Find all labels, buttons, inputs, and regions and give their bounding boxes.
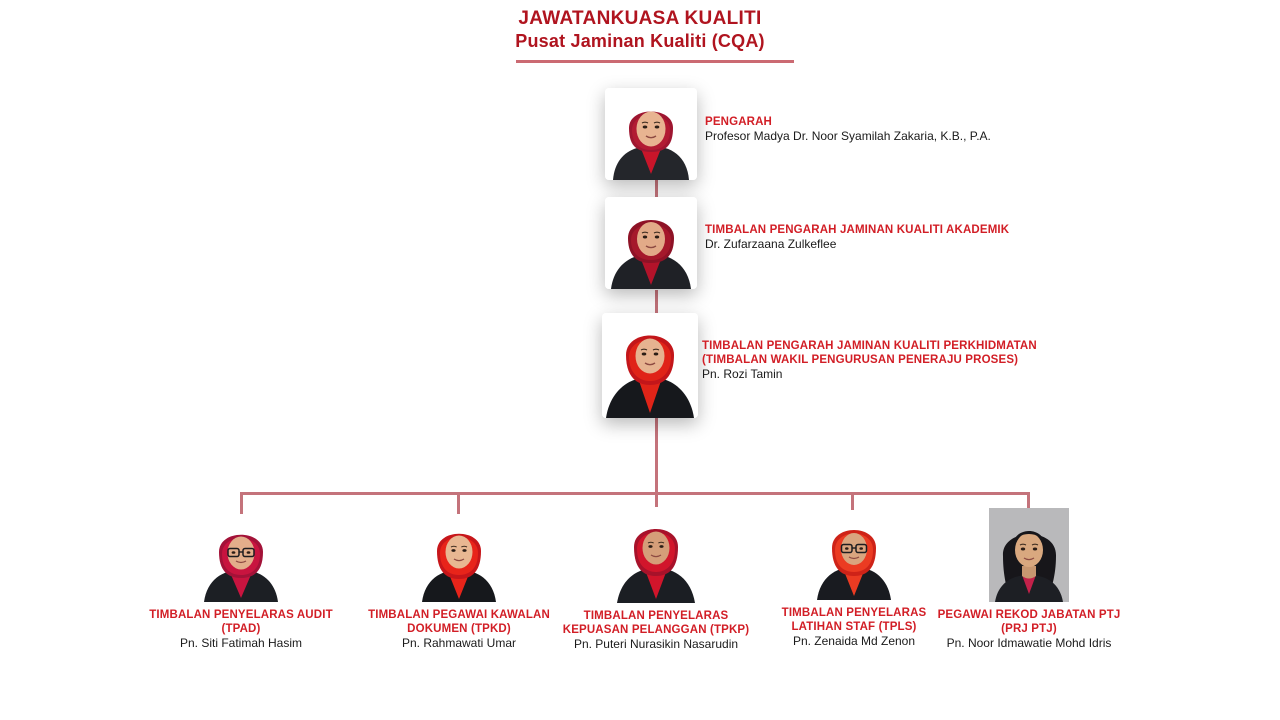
label-pengarah: PENGARAH Profesor Madya Dr. Noor Syamila… bbox=[705, 115, 1085, 144]
org-node-tpkd[interactable]: TIMBALAN PEGAWAI KAWALAN DOKUMEN (TPKD) … bbox=[355, 514, 563, 645]
portrait-pengarah bbox=[605, 88, 697, 180]
role-tpkd: TIMBALAN PEGAWAI KAWALAN DOKUMEN (TPKD) bbox=[355, 608, 563, 636]
chart-title: JAWATANKUASA KUALITI Pusat Jaminan Kuali… bbox=[0, 8, 1280, 52]
role-pengarah: PENGARAH bbox=[705, 115, 1085, 129]
portrait-timbalan-perkhidmatan bbox=[602, 313, 698, 418]
org-chart-canvas: JAWATANKUASA KUALITI Pusat Jaminan Kuali… bbox=[0, 0, 1280, 720]
portrait-timbalan-akademik bbox=[605, 197, 697, 289]
connector-drop-1 bbox=[240, 492, 243, 516]
label-tpad: TIMBALAN PENYELARAS AUDIT (TPAD) Pn. Sit… bbox=[137, 608, 345, 651]
label-prjptj: PEGAWAI REKOD JABATAN PTJ (PRJ PTJ) Pn. … bbox=[925, 608, 1133, 651]
portrait-tpkp bbox=[612, 507, 700, 603]
portrait-tpkd bbox=[416, 514, 502, 602]
org-node-tpkp[interactable]: TIMBALAN PENYELARAS KEPUASAN PELANGGAN (… bbox=[552, 507, 760, 646]
role-prjptj: PEGAWAI REKOD JABATAN PTJ (PRJ PTJ) bbox=[925, 608, 1133, 636]
portrait-tpad bbox=[198, 514, 284, 602]
title-line-1: JAWATANKUASA KUALITI bbox=[0, 8, 1280, 30]
label-timbalan-akademik: TIMBALAN PENGARAH JAMINAN KUALITI AKADEM… bbox=[705, 223, 1085, 252]
person-prjptj: Pn. Noor Idmawatie Mohd Idris bbox=[925, 636, 1133, 651]
connector-drop-2 bbox=[457, 492, 460, 516]
label-tpkd: TIMBALAN PEGAWAI KAWALAN DOKUMEN (TPKD) … bbox=[355, 608, 563, 651]
org-node-prjptj[interactable]: PEGAWAI REKOD JABATAN PTJ (PRJ PTJ) Pn. … bbox=[925, 508, 1133, 645]
portrait-tpls bbox=[812, 510, 896, 600]
role-tpkp: TIMBALAN PENYELARAS KEPUASAN PELANGGAN (… bbox=[552, 609, 760, 637]
person-tpad: Pn. Siti Fatimah Hasim bbox=[137, 636, 345, 651]
title-underline-rule bbox=[516, 60, 794, 63]
role-timbalan-perkhidmatan: TIMBALAN PENGARAH JAMINAN KUALITI PERKHI… bbox=[702, 339, 1092, 367]
org-node-tpad[interactable]: TIMBALAN PENYELARAS AUDIT (TPAD) Pn. Sit… bbox=[137, 514, 345, 645]
person-tpkp: Pn. Puteri Nurasikin Nasarudin bbox=[552, 637, 760, 652]
role-tpad: TIMBALAN PENYELARAS AUDIT (TPAD) bbox=[137, 608, 345, 636]
person-pengarah: Profesor Madya Dr. Noor Syamilah Zakaria… bbox=[705, 129, 1085, 144]
connector-horizontal-bus bbox=[240, 492, 1030, 495]
role-timbalan-akademik: TIMBALAN PENGARAH JAMINAN KUALITI AKADEM… bbox=[705, 223, 1085, 237]
label-timbalan-perkhidmatan: TIMBALAN PENGARAH JAMINAN KUALITI PERKHI… bbox=[702, 339, 1092, 382]
label-tpkp: TIMBALAN PENYELARAS KEPUASAN PELANGGAN (… bbox=[552, 609, 760, 652]
person-timbalan-perkhidmatan: Pn. Rozi Tamin bbox=[702, 367, 1092, 382]
person-tpkd: Pn. Rahmawati Umar bbox=[355, 636, 563, 651]
connector-l3-trunk bbox=[655, 418, 658, 494]
title-line-2: Pusat Jaminan Kualiti (CQA) bbox=[0, 30, 1280, 52]
portrait-prjptj bbox=[977, 508, 1081, 602]
person-timbalan-akademik: Dr. Zufarzaana Zulkeflee bbox=[705, 237, 1085, 252]
